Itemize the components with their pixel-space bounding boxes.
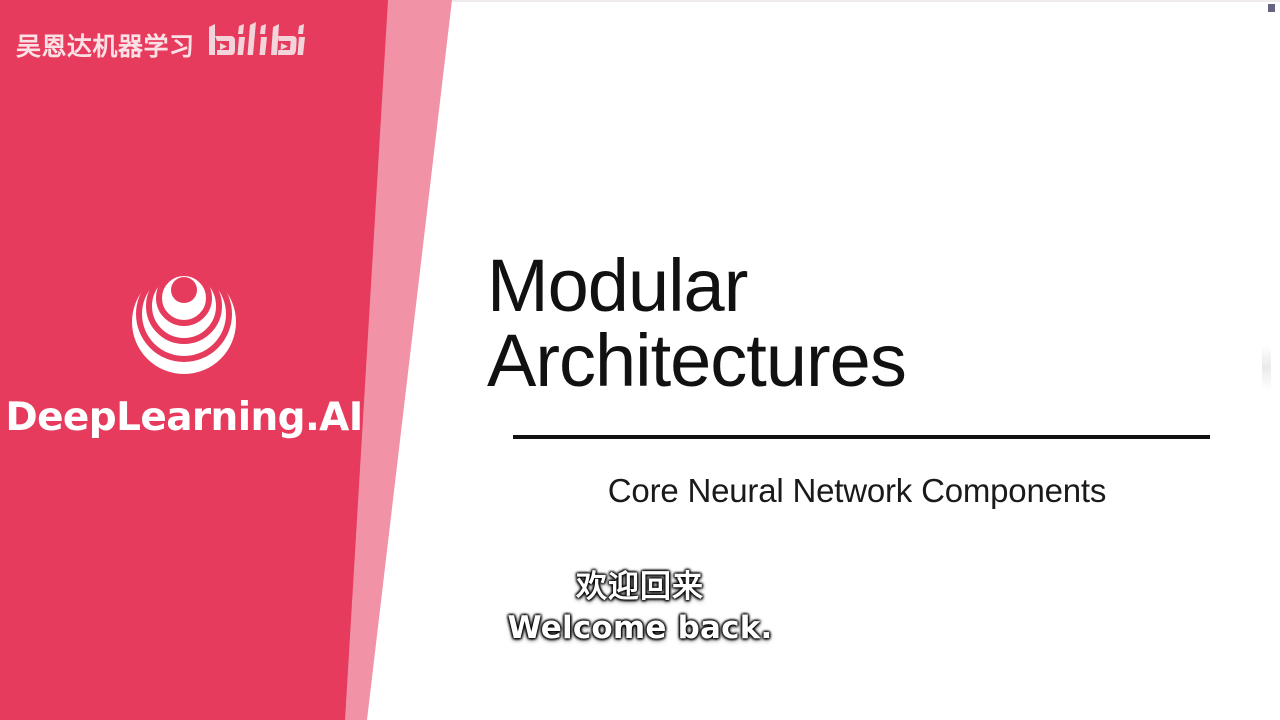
corner-pixel-artifact [1268,4,1275,12]
slide-subtitle: Core Neural Network Components [487,472,1227,510]
top-edge-artifact [452,0,1280,2]
deeplearning-ai-logo-icon [0,262,368,379]
caption-english: Welcome back. [360,608,920,648]
caption-chinese: 欢迎回来 [360,568,920,608]
slide-title: Modular Architectures [487,248,1227,399]
slide-canvas: 吴恩达机器学习 [0,0,1280,720]
brand-name-label: DeepLearning.AI [0,395,368,440]
bilibili-logo-icon [205,22,309,67]
right-edge-smudge-artifact [1262,345,1271,390]
channel-watermark: 吴恩达机器学习 [16,22,309,67]
title-divider-rule [513,435,1210,439]
watermark-channel-name: 吴恩达机器学习 [16,27,195,63]
brand-lockup: DeepLearning.AI [0,262,368,440]
video-captions: 欢迎回来 Welcome back. [360,568,920,648]
left-brand-panel: 吴恩达机器学习 [0,0,390,720]
title-block: Modular Architectures [487,248,1227,399]
